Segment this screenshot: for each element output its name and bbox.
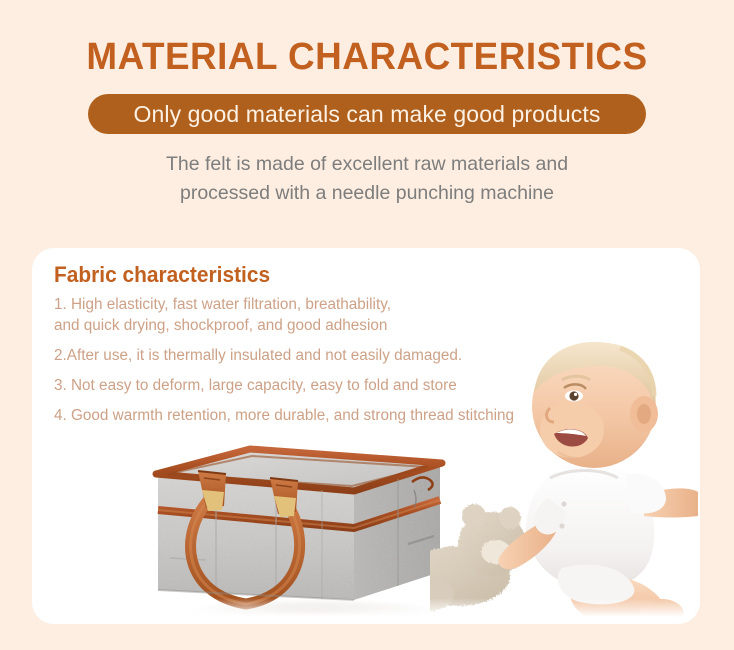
subtitle: The felt is made of excellent raw materi… — [0, 150, 734, 208]
card-heading: Fabric characteristics — [54, 262, 270, 288]
subtitle-line-1: The felt is made of excellent raw materi… — [0, 150, 734, 179]
subtitle-line-2: processed with a needle punching machine — [0, 179, 734, 208]
lifestyle-image-baby-with-teddy — [430, 326, 700, 624]
header: MATERIAL CHARACTERISTICS Only good mater… — [0, 0, 734, 208]
feature-3-line-1: 3. Not easy to deform, large capacity, e… — [54, 377, 457, 394]
feature-2-line-1: 2.After use, it is thermally insulated a… — [54, 347, 462, 364]
tagline-pill: Only good materials can make good produc… — [88, 94, 646, 134]
page-title: MATERIAL CHARACTERISTICS — [11, 38, 723, 76]
product-image-felt-caddy — [140, 438, 470, 624]
feature-1-line-1: 1. High elasticity, fast water filtratio… — [54, 296, 391, 313]
tagline-banner: Only good materials can make good produc… — [0, 94, 734, 134]
fabric-characteristics-card: Fabric characteristics 1. High elasticit… — [32, 248, 700, 624]
